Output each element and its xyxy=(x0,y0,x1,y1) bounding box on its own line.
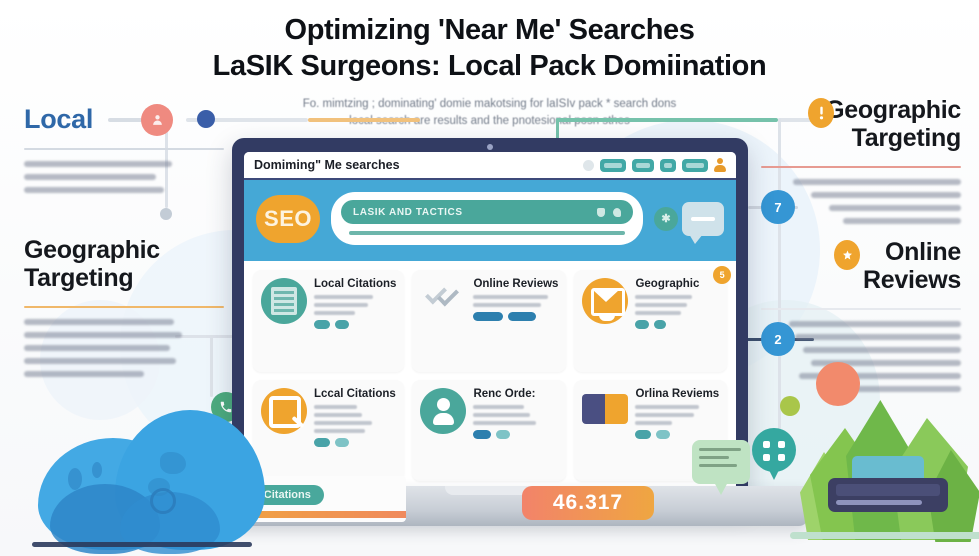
card-tags xyxy=(314,438,396,447)
nav-pill-2[interactable] xyxy=(632,159,654,172)
card-tag[interactable] xyxy=(635,430,651,439)
person-icon xyxy=(420,388,466,434)
right-section-geographic: Geographic Targeting xyxy=(761,96,961,231)
infographic-canvas: Optimizing 'Near Me' Searches LaSIK Surg… xyxy=(0,0,979,556)
card-reviews-order[interactable]: Renc Orde: xyxy=(412,380,566,482)
left-section-geographic: Geographic Targeting xyxy=(24,236,224,384)
card-tag[interactable] xyxy=(496,430,510,439)
search-underline xyxy=(349,231,625,235)
nav-pill-1[interactable] xyxy=(600,159,626,172)
card-geographic[interactable]: Geographic 5 xyxy=(574,270,727,372)
checkmarks-icon xyxy=(420,278,466,324)
right-label-geo-2: Targeting xyxy=(852,124,961,152)
search-container: LASIK AND TACTICS xyxy=(331,192,643,245)
nav-pill-4[interactable] xyxy=(682,159,708,172)
browser-dot-icon xyxy=(583,160,594,171)
card-body-text xyxy=(314,295,396,315)
card-body-text xyxy=(473,295,558,307)
right-label-reviews-1: Online xyxy=(885,238,961,266)
documents-icon xyxy=(261,278,307,324)
user-avatar-icon[interactable] xyxy=(714,158,726,172)
left-body-text-1 xyxy=(24,161,224,193)
rail-green-drop xyxy=(556,118,559,140)
left-divider-1 xyxy=(24,148,224,150)
mail-monitor-icon xyxy=(582,278,628,324)
card-body-text xyxy=(635,405,719,425)
hero-right-group: ✱ xyxy=(654,202,724,236)
card-tag[interactable] xyxy=(473,430,491,439)
rail-top-green xyxy=(556,118,778,122)
node-left-gray[interactable] xyxy=(160,208,172,220)
seo-badge: SEO xyxy=(256,195,320,243)
right-body-text-2 xyxy=(761,321,961,392)
cloud-blob-icon xyxy=(20,392,270,552)
browser-toolbar: Domiming" Me searches xyxy=(244,152,736,180)
left-label-geo-1: Geographic xyxy=(24,236,160,264)
card-tags xyxy=(635,320,719,329)
right-section-reviews: Online Reviews xyxy=(761,238,961,399)
laptop-illustration: Domiming" Me searches SEO LASIK AND TAC xyxy=(232,138,748,500)
page-subtitle: Fo. mimtzing ; dominating' domie makotsi… xyxy=(255,96,725,131)
card-local-citations-1[interactable]: Local Citations xyxy=(253,270,404,372)
laptop-screen: Domiming" Me searches SEO LASIK AND TAC xyxy=(244,152,736,490)
card-tag[interactable] xyxy=(508,312,536,321)
card-tag[interactable] xyxy=(335,320,349,329)
olive-circle-decor xyxy=(780,396,800,416)
card-body-text xyxy=(635,295,719,315)
right-divider-1 xyxy=(761,166,961,168)
feature-card-grid: Local Citations Online Reviews xyxy=(244,261,736,490)
subtitle-line-1: Fo. mimtzing ; dominating' domie makotsi… xyxy=(303,98,677,110)
card-tag[interactable] xyxy=(314,320,330,329)
right-label-geographic: Geographic Targeting xyxy=(761,96,961,152)
chat-icon[interactable]: ✱ xyxy=(654,207,678,231)
right-divider-2 xyxy=(761,308,961,310)
search-input-value: LASIK AND TACTICS xyxy=(353,207,589,218)
left-section-local: Local xyxy=(24,104,224,200)
left-body-text-2 xyxy=(24,319,224,377)
grid-pin-icon xyxy=(752,428,796,472)
person-badge-icon xyxy=(141,104,173,136)
card-title: Orlina Reviems xyxy=(635,388,719,400)
left-divider-2 xyxy=(24,306,224,308)
right-label-geo-1: Geographic xyxy=(825,96,961,124)
map-card-icon xyxy=(692,440,750,484)
title-line-2: LaSIK Surgeons: Local Pack Domiination xyxy=(213,50,767,82)
speech-bubble-icon xyxy=(682,202,724,236)
card-tags xyxy=(473,430,558,439)
card-title: Online Reviews xyxy=(473,278,558,290)
right-body-text-1 xyxy=(761,179,961,224)
card-tags xyxy=(314,320,396,329)
card-title: Renc Orde: xyxy=(473,388,558,400)
card-title: Lccal Citations xyxy=(314,388,396,400)
webcam-icon xyxy=(487,144,493,150)
left-label-local: Local xyxy=(24,104,224,134)
kpi-value: 46.317 xyxy=(522,486,654,520)
laptop-lid: Domiming" Me searches SEO LASIK AND TAC xyxy=(232,138,748,500)
status-badge: 5 xyxy=(713,266,731,284)
card-tag[interactable] xyxy=(654,320,666,329)
left-label-geographic: Geographic Targeting xyxy=(24,236,224,292)
card-local-citations-2[interactable]: Lccal Citations xyxy=(253,380,404,482)
card-tags xyxy=(473,312,558,321)
rail-top-orange xyxy=(308,118,420,122)
search-input[interactable]: LASIK AND TACTICS xyxy=(341,200,633,224)
hero-banner: SEO LASIK AND TACTICS ✱ xyxy=(244,180,736,261)
card-tag[interactable] xyxy=(635,320,649,329)
right-label-reviews-2: Reviews xyxy=(863,266,961,294)
card-tag[interactable] xyxy=(314,438,330,447)
split-chart-icon xyxy=(582,388,628,434)
card-body-text xyxy=(473,405,558,425)
card-tag[interactable] xyxy=(335,438,349,447)
card-title: Geographic xyxy=(635,278,719,290)
card-tags xyxy=(635,430,719,439)
card-title: Local Citations xyxy=(314,278,396,290)
nav-pill-3[interactable] xyxy=(660,159,676,172)
title-line-1: Optimizing 'Near Me' Searches xyxy=(285,14,695,46)
left-label-geo-2: Targeting xyxy=(24,264,133,292)
card-tag[interactable] xyxy=(473,312,503,321)
right-label-reviews: Online Reviews xyxy=(761,238,961,294)
mic-icon[interactable] xyxy=(613,208,621,217)
card-tag[interactable] xyxy=(656,430,670,439)
card-body-text xyxy=(314,405,396,433)
location-icon[interactable] xyxy=(597,208,605,217)
browser-tab-title[interactable]: Domiming" Me searches xyxy=(254,158,577,172)
printer-icon xyxy=(828,478,948,512)
alert-badge-icon xyxy=(808,98,834,128)
card-online-reviews-1[interactable]: Online Reviews xyxy=(412,270,566,372)
star-badge-icon xyxy=(834,240,860,270)
